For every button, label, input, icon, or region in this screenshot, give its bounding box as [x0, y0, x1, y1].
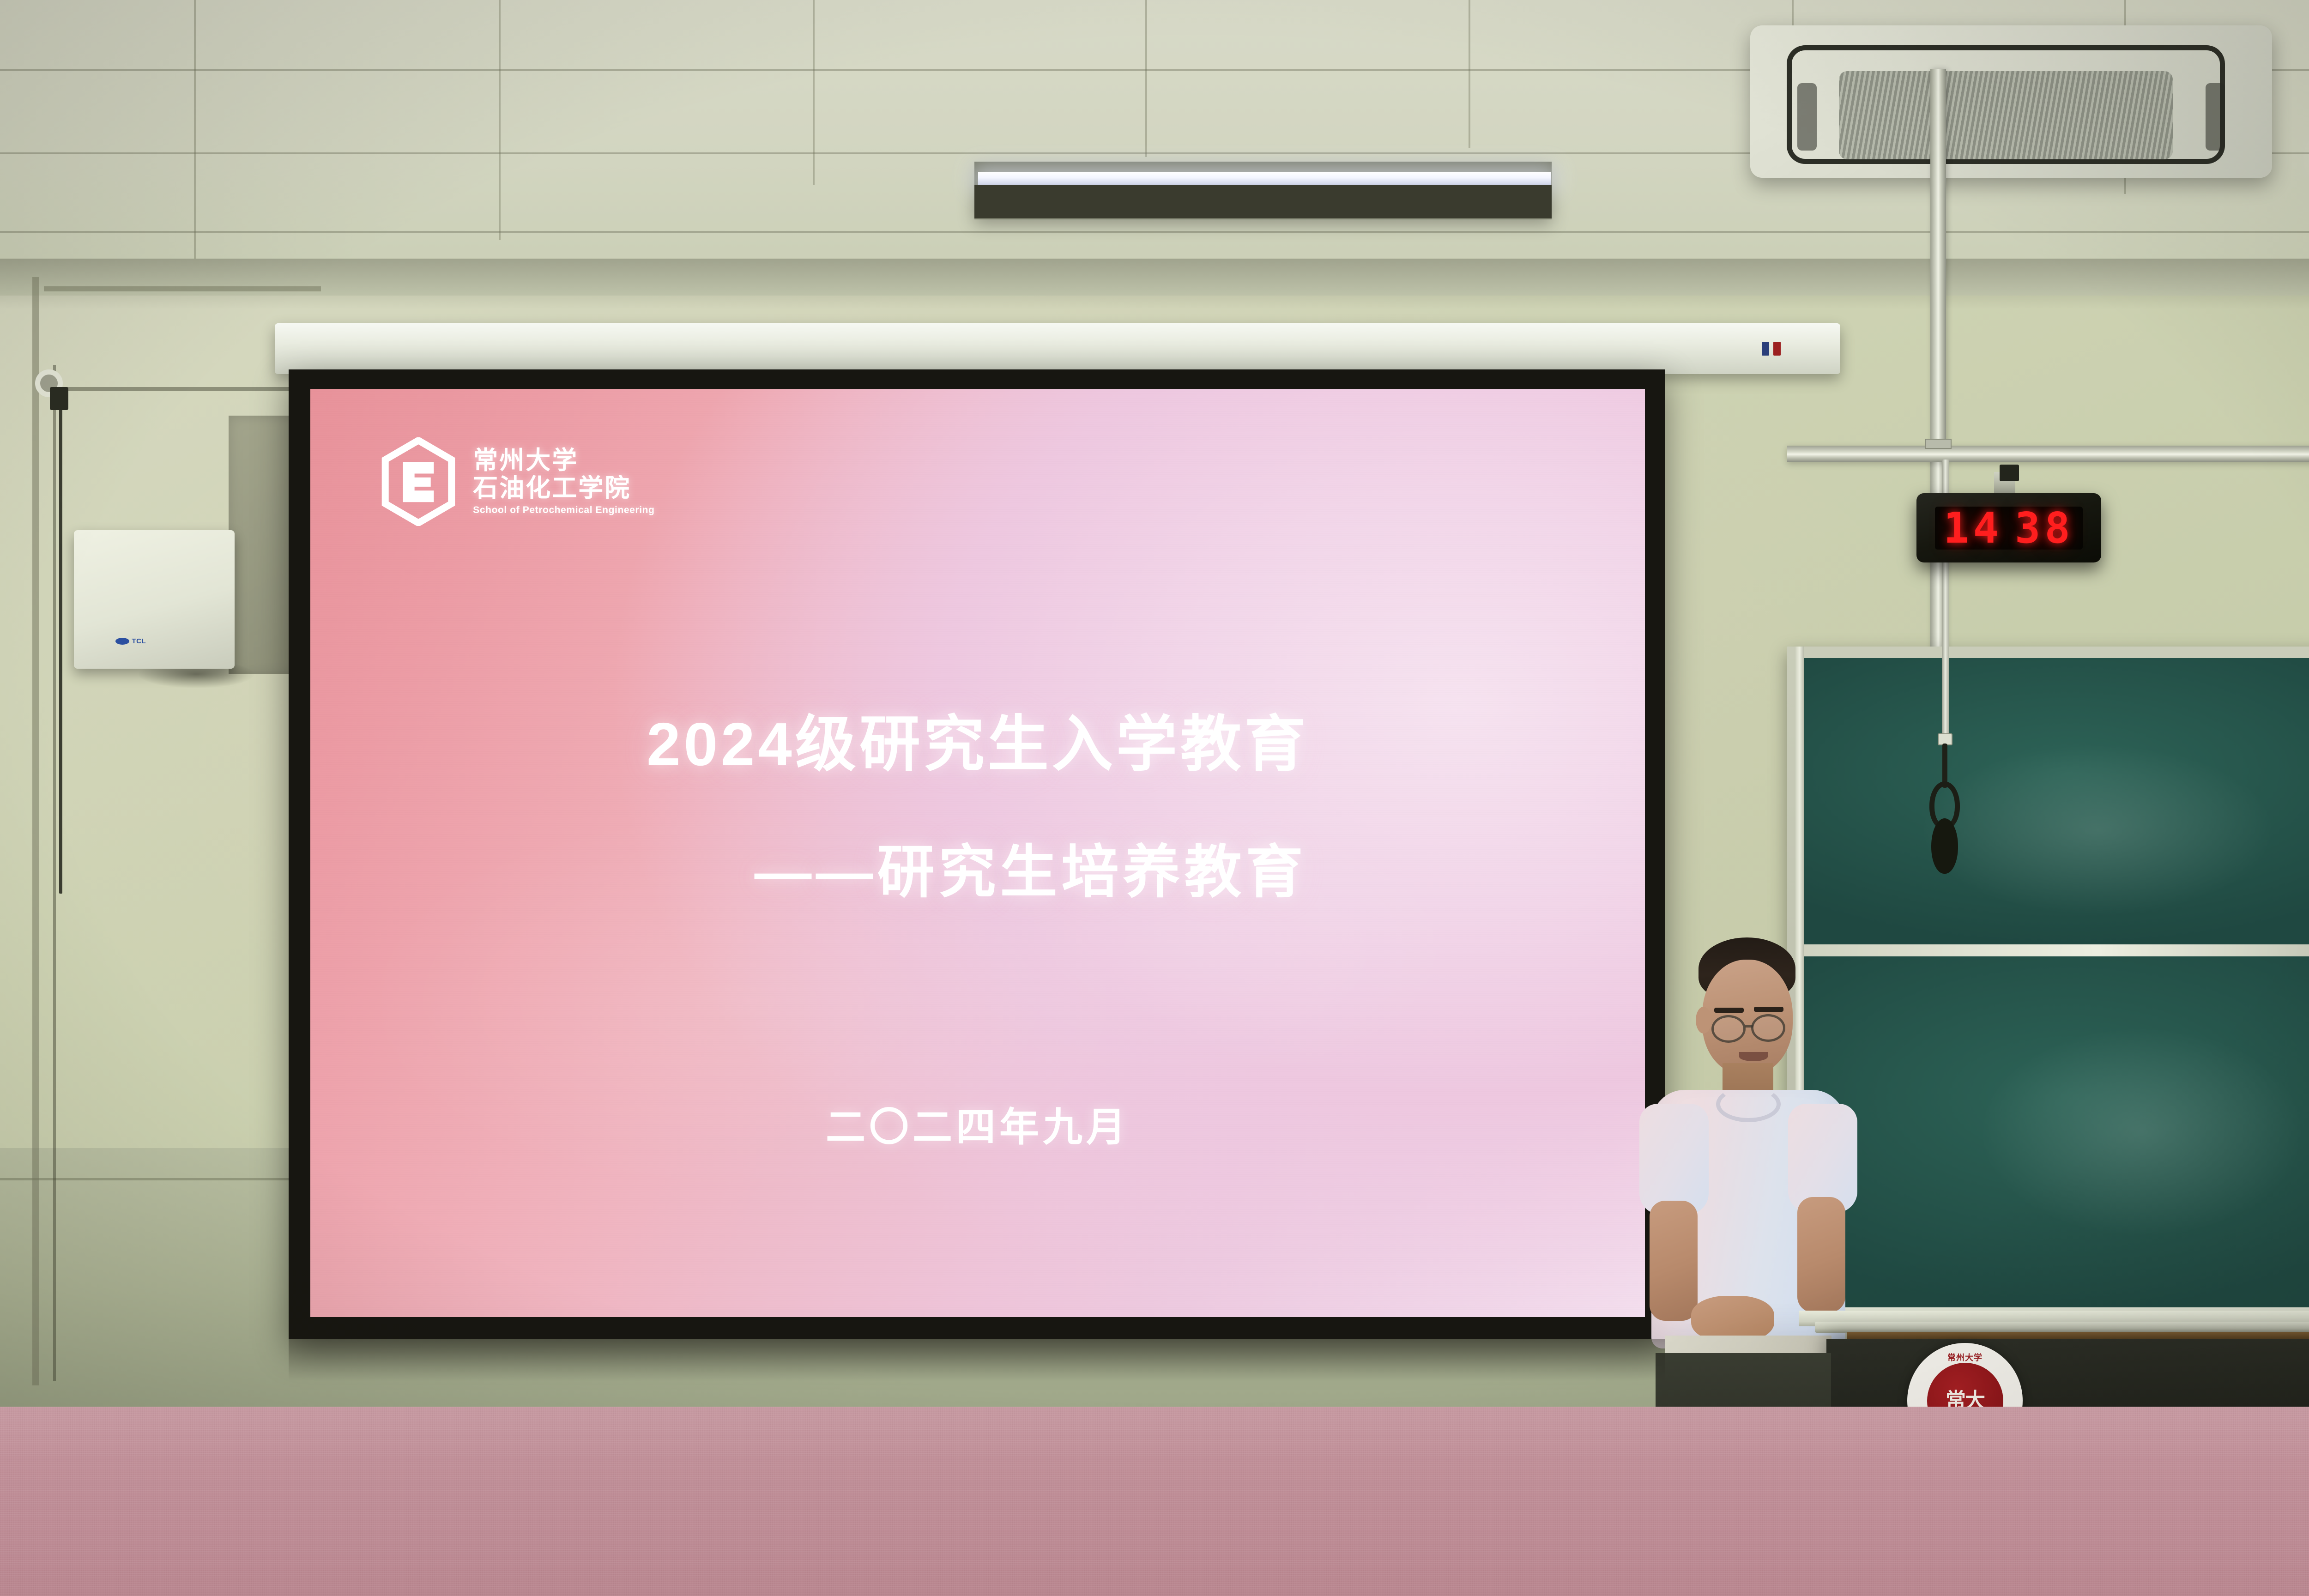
presenter-arm-right	[1797, 1197, 1845, 1312]
ac-vent	[2206, 83, 2225, 150]
pipe-bracket	[1925, 439, 1952, 449]
brand-mark-icon	[1773, 342, 1781, 356]
projection-screen-casing	[275, 323, 1840, 374]
projection-screen-surface[interactable]: 常州大学 石油化工学院 School of Petrochemical Engi…	[310, 389, 1645, 1317]
clock-minutes: 38	[2015, 503, 2074, 553]
clock-hours: 14	[1943, 503, 2003, 553]
bottom-color-band	[0, 1407, 2309, 1596]
presenter-eyebrow	[1754, 1007, 1783, 1012]
logo-school-name: 石油化工学院	[473, 475, 654, 502]
light-shadow-band	[974, 185, 1552, 218]
ceiling-tile-line	[194, 0, 196, 259]
ceiling-tile-line	[0, 231, 2309, 233]
slide-date: 二〇二四年九月	[310, 1094, 1645, 1152]
band-texture	[0, 1407, 2309, 1596]
slide-logo-text: 常州大学 石油化工学院 School of Petrochemical Engi…	[473, 447, 654, 516]
wall-seam	[44, 286, 321, 291]
fluorescent-tube	[978, 172, 1551, 185]
presenter-arm-left	[1650, 1201, 1698, 1321]
logo-university-name: 常州大学	[473, 447, 654, 474]
wall-seam	[53, 365, 56, 1381]
ceiling-wall-shadow	[0, 259, 2309, 309]
glasses-lens-right	[1751, 1014, 1785, 1042]
presenter-collar	[1716, 1086, 1781, 1122]
glasses-bridge	[1745, 1025, 1753, 1028]
blackboard-divider	[1801, 944, 2309, 956]
board-smudge	[1979, 1027, 2305, 1237]
presenter-eyebrow	[1714, 1008, 1744, 1013]
pulley-hook	[50, 387, 68, 410]
wall-seam	[42, 387, 328, 391]
presenter-ear	[1696, 1007, 1711, 1034]
brand-name: TCL	[132, 637, 146, 645]
ceiling-tile-line	[499, 0, 501, 240]
presenter-hands	[1691, 1296, 1774, 1342]
ceiling-tile-line	[1469, 0, 1470, 148]
brand-mark-icon	[1762, 342, 1769, 356]
blackboard	[1801, 658, 2309, 944]
device-brand-logo: TCL	[115, 637, 146, 645]
podium-top-edge	[1815, 1322, 2309, 1333]
ceiling-tile-line	[813, 0, 815, 185]
presenter	[1607, 937, 1866, 1404]
casing-brand-logo	[1762, 342, 1785, 356]
presenter-mouth	[1739, 1052, 1768, 1061]
seal-outer-text: 常州大学	[1907, 1351, 2023, 1363]
ac-vent	[1797, 83, 1817, 150]
wall-seam	[32, 277, 39, 1385]
clock-display: 14 38	[1935, 507, 2083, 550]
board-smudge	[1920, 744, 2275, 916]
hexagon-e-emblem-icon	[380, 437, 457, 526]
ac-grille	[1839, 71, 2173, 159]
logo-school-name-en: School of Petrochemical Engineering	[473, 505, 654, 516]
presenter-sleeve-left	[1639, 1104, 1709, 1215]
air-conditioner-unit	[1750, 25, 2272, 178]
presenter-sleeve-right	[1788, 1104, 1857, 1213]
wall-cable	[59, 390, 62, 894]
clock-mount-arm	[2000, 465, 2019, 481]
ceiling-tile-line	[1145, 0, 1147, 157]
classroom-photo: TCL 常州大学 石油化工学院 School of Petrochemical …	[0, 0, 2309, 1596]
ceiling-pipe-horizontal	[1787, 446, 2309, 462]
glasses-lens-left	[1711, 1015, 1746, 1043]
slide-title: 2024级研究生入学教育	[310, 695, 1645, 783]
brand-oval-icon	[115, 638, 129, 645]
wall-mounted-device: TCL	[74, 530, 235, 669]
slide-subtitle: ——研究生培养教育	[310, 825, 1645, 908]
digital-clock: 14 38	[1916, 493, 2101, 562]
blackboard-lower	[1801, 956, 2309, 1307]
strap-weight	[1931, 818, 1958, 874]
screen-bottom-shadow	[289, 1339, 1665, 1381]
slide-logo-block: 常州大学 石油化工学院 School of Petrochemical Engi…	[380, 437, 654, 526]
